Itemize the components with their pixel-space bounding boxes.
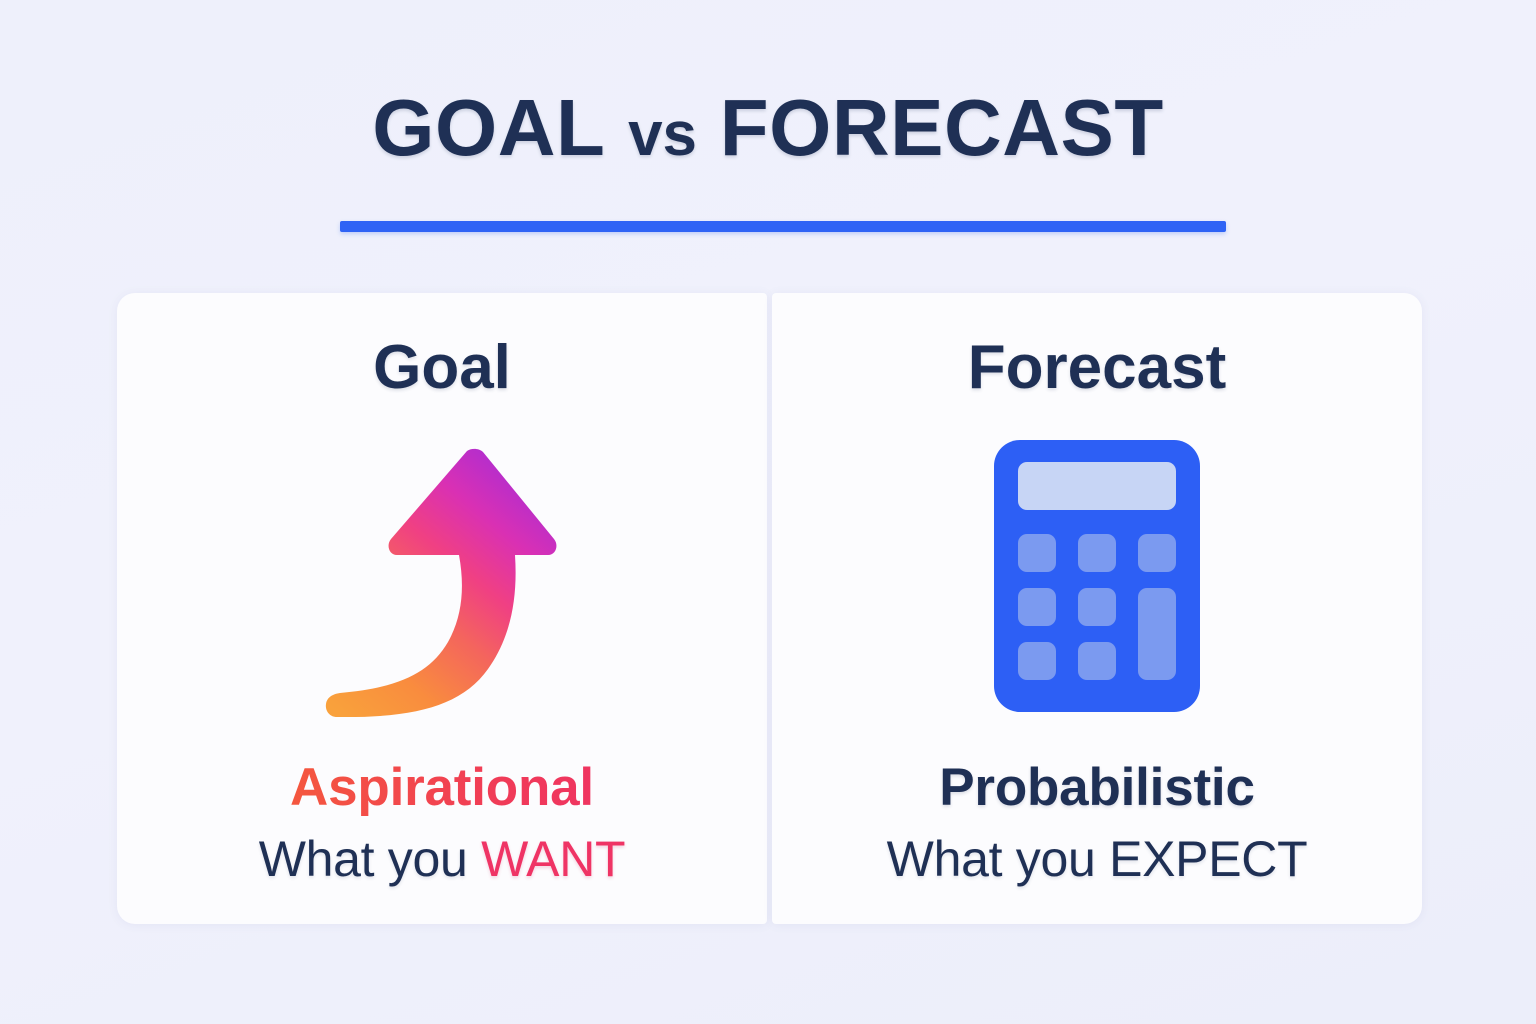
page-title-wrap: GOAL vs FORECAST: [0, 88, 1536, 168]
title-word-forecast: FORECAST: [720, 83, 1164, 172]
card-goal[interactable]: Goal: [117, 293, 767, 924]
card-goal-captions: Aspirational What you WANT: [117, 758, 767, 924]
card-goal-caption-main: Aspirational: [117, 758, 767, 819]
card-forecast-title: Forecast: [968, 335, 1226, 400]
title-word-goal: GOAL: [372, 83, 605, 172]
title-word-vs: vs: [628, 100, 697, 169]
card-forecast-caption-sub: What you EXPECT: [772, 831, 1422, 889]
card-goal-icon-zone: [117, 394, 767, 757]
card-forecast-icon-zone: [772, 394, 1422, 757]
upward-curved-arrow-icon: [307, 426, 577, 726]
card-goal-caption-sub-accent: WANT: [481, 831, 625, 887]
card-forecast-captions: Probabilistic What you EXPECT: [772, 758, 1422, 924]
comparison-cards: Goal: [117, 293, 1422, 924]
calculator-icon: [994, 440, 1200, 712]
card-forecast-caption-sub-plain: What you EXPECT: [887, 831, 1308, 887]
page-title: GOAL vs FORECAST: [0, 88, 1536, 168]
card-forecast-caption-main: Probabilistic: [772, 758, 1422, 819]
card-goal-title: Goal: [373, 335, 511, 400]
card-goal-caption-sub: What you WANT: [117, 831, 767, 889]
card-forecast[interactable]: Forecast: [772, 293, 1422, 924]
infographic-canvas: GOAL vs FORECAST Goal: [0, 0, 1536, 1024]
title-underline-rule: [340, 221, 1226, 232]
card-goal-caption-sub-plain: What you: [259, 831, 481, 887]
